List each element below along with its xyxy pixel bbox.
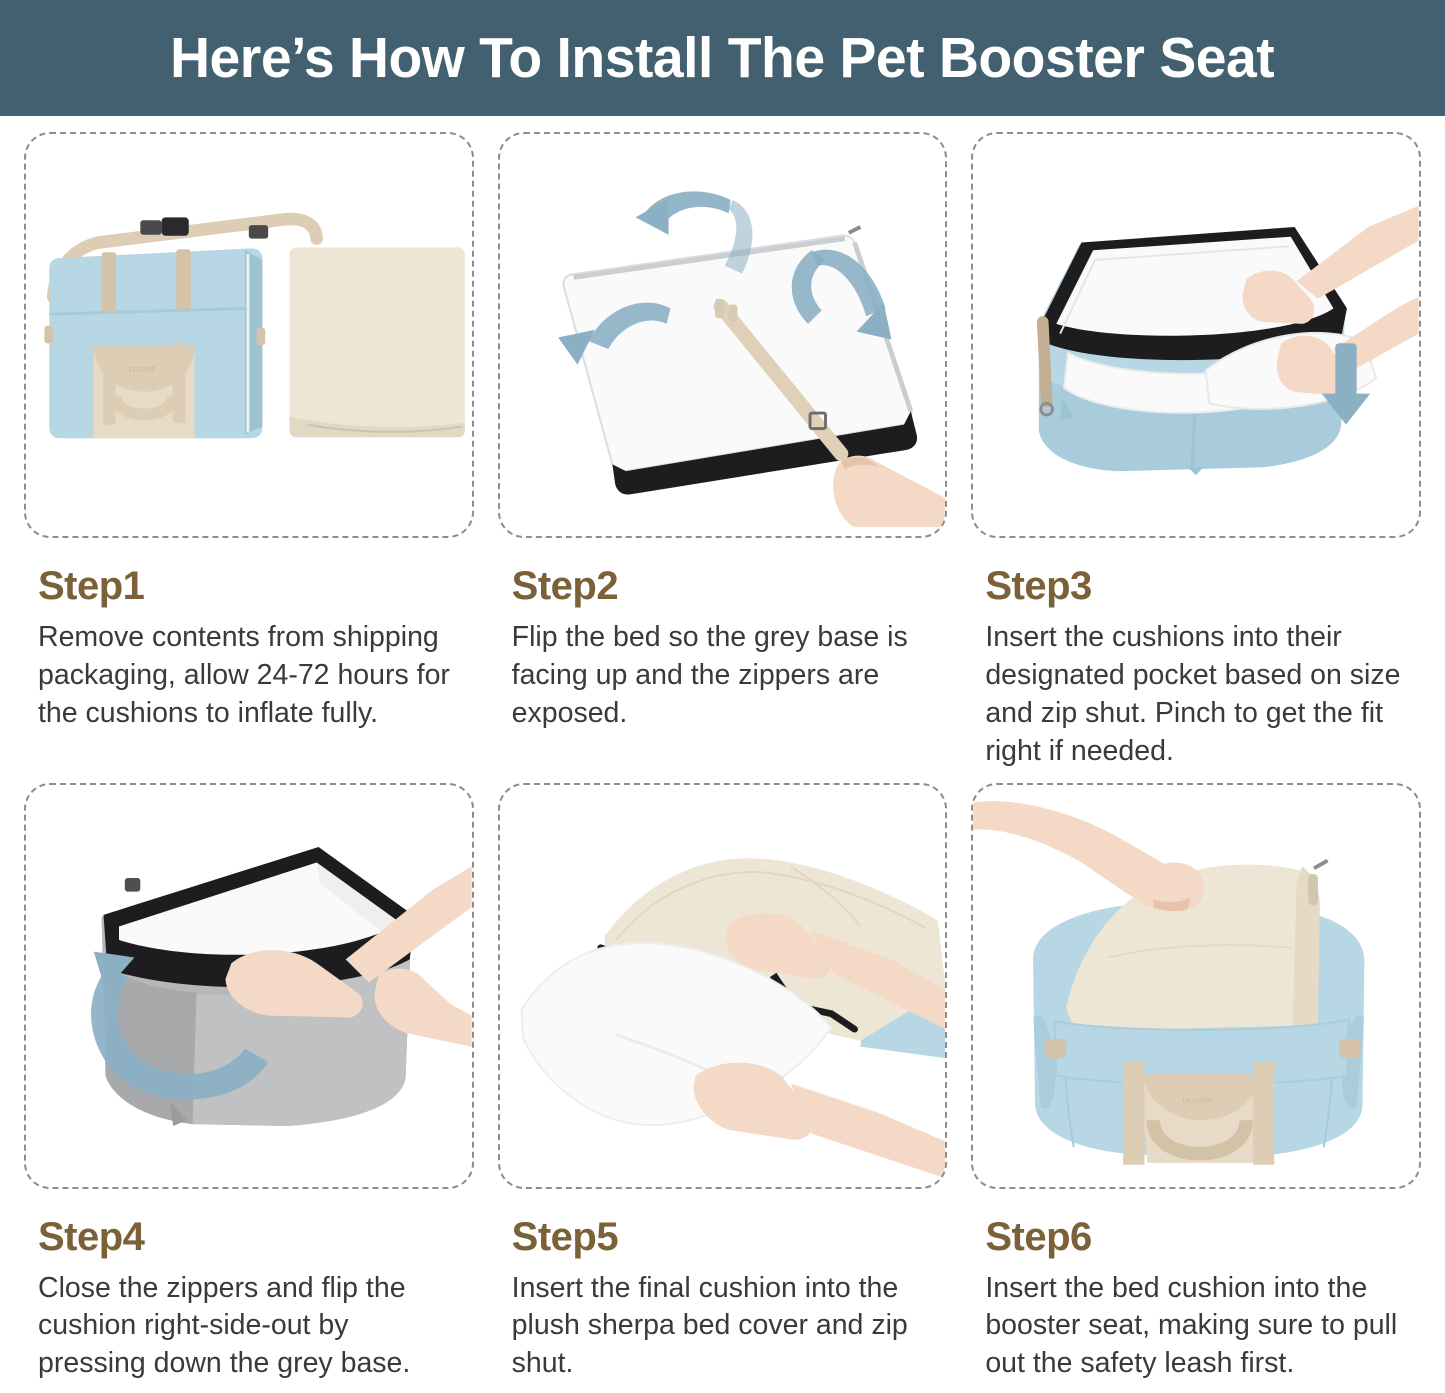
step-image-panel-6: LESURE (971, 783, 1421, 1189)
hand-lower-supporting (693, 1062, 945, 1178)
step-image-panel-3 (971, 132, 1421, 538)
strap-tab-left (102, 252, 117, 312)
step-cell-3: Step3 Insert the cushions into their des… (971, 132, 1421, 771)
strap-slider-right (249, 225, 268, 239)
brand-mark: LESURE (129, 366, 157, 373)
strap-buckle (162, 217, 189, 235)
step-body-6: Insert the bed cushion into the booster … (985, 1270, 1405, 1384)
strap-tab-right (176, 249, 191, 309)
page-header: Here’s How To Install The Pet Booster Se… (0, 0, 1445, 116)
illustration-flip-bed (500, 134, 946, 527)
illustration-sherpa-cover (500, 785, 946, 1178)
step-body-5: Insert the final cushion into the plush … (512, 1270, 932, 1384)
rotation-arrow-top-left (635, 191, 730, 234)
step-cell-5: Step5 Insert the final cushion into the … (498, 783, 948, 1384)
side-handle-left (1045, 1038, 1066, 1057)
brand-mark: LESURE (1183, 1095, 1214, 1104)
step-cell-2: Step2 Flip the bed so the grey base is f… (498, 132, 948, 771)
step-label-4: Step4 (38, 1215, 474, 1260)
page-title: Here’s How To Install The Pet Booster Se… (170, 25, 1274, 91)
step-image-panel-4 (24, 783, 474, 1189)
base-handle-tab (125, 878, 141, 892)
zipper-pull-tab (848, 227, 860, 233)
hand-right (833, 456, 945, 528)
illustration-insert-cushions (973, 134, 1419, 527)
step-body-3: Insert the cushions into their designate… (985, 619, 1405, 771)
illustration-bag-and-blanket: LESURE (26, 134, 472, 527)
hand-placing-cushion (973, 801, 1204, 911)
step-body-4: Close the zippers and flip the cushion r… (38, 1270, 458, 1384)
illustration-finished-booster-seat: LESURE (973, 785, 1419, 1178)
step-cell-1: LESURE Step1 Remove contents from shippi… (24, 132, 474, 771)
zipper-pull-strap (1043, 322, 1047, 401)
step-label-3: Step3 (985, 564, 1421, 609)
folded-blanket (290, 247, 465, 437)
safety-leash-tab (1309, 874, 1319, 905)
strap-end-right (728, 305, 737, 322)
strap-slider-left (140, 220, 161, 235)
step-body-1: Remove contents from shipping packaging,… (38, 619, 458, 733)
side-tab-right (257, 328, 266, 345)
step-image-panel-2 (498, 132, 948, 538)
step-label-2: Step2 (512, 564, 948, 609)
step-cell-4: Step4 Close the zippers and flip the cus… (24, 783, 474, 1384)
step-image-panel-5 (498, 783, 948, 1189)
side-tab-left (44, 326, 53, 343)
step-image-panel-1: LESURE (24, 132, 474, 538)
steps-grid: LESURE Step1 Remove contents from shippi… (0, 116, 1445, 1383)
step-body-2: Flip the bed so the grey base is facing … (512, 619, 932, 733)
strap-end-left (715, 299, 724, 318)
step-label-5: Step5 (512, 1215, 948, 1260)
side-handle-right (1340, 1038, 1361, 1057)
step-label-1: Step1 (38, 564, 474, 609)
bag-foot-bottom (1188, 467, 1204, 475)
illustration-flip-grey-base (26, 785, 472, 1178)
step-label-6: Step6 (985, 1215, 1421, 1260)
step-cell-6: LESURE Step6 Insert the bed cushion into… (971, 783, 1421, 1384)
zipper-pull (1314, 860, 1328, 868)
